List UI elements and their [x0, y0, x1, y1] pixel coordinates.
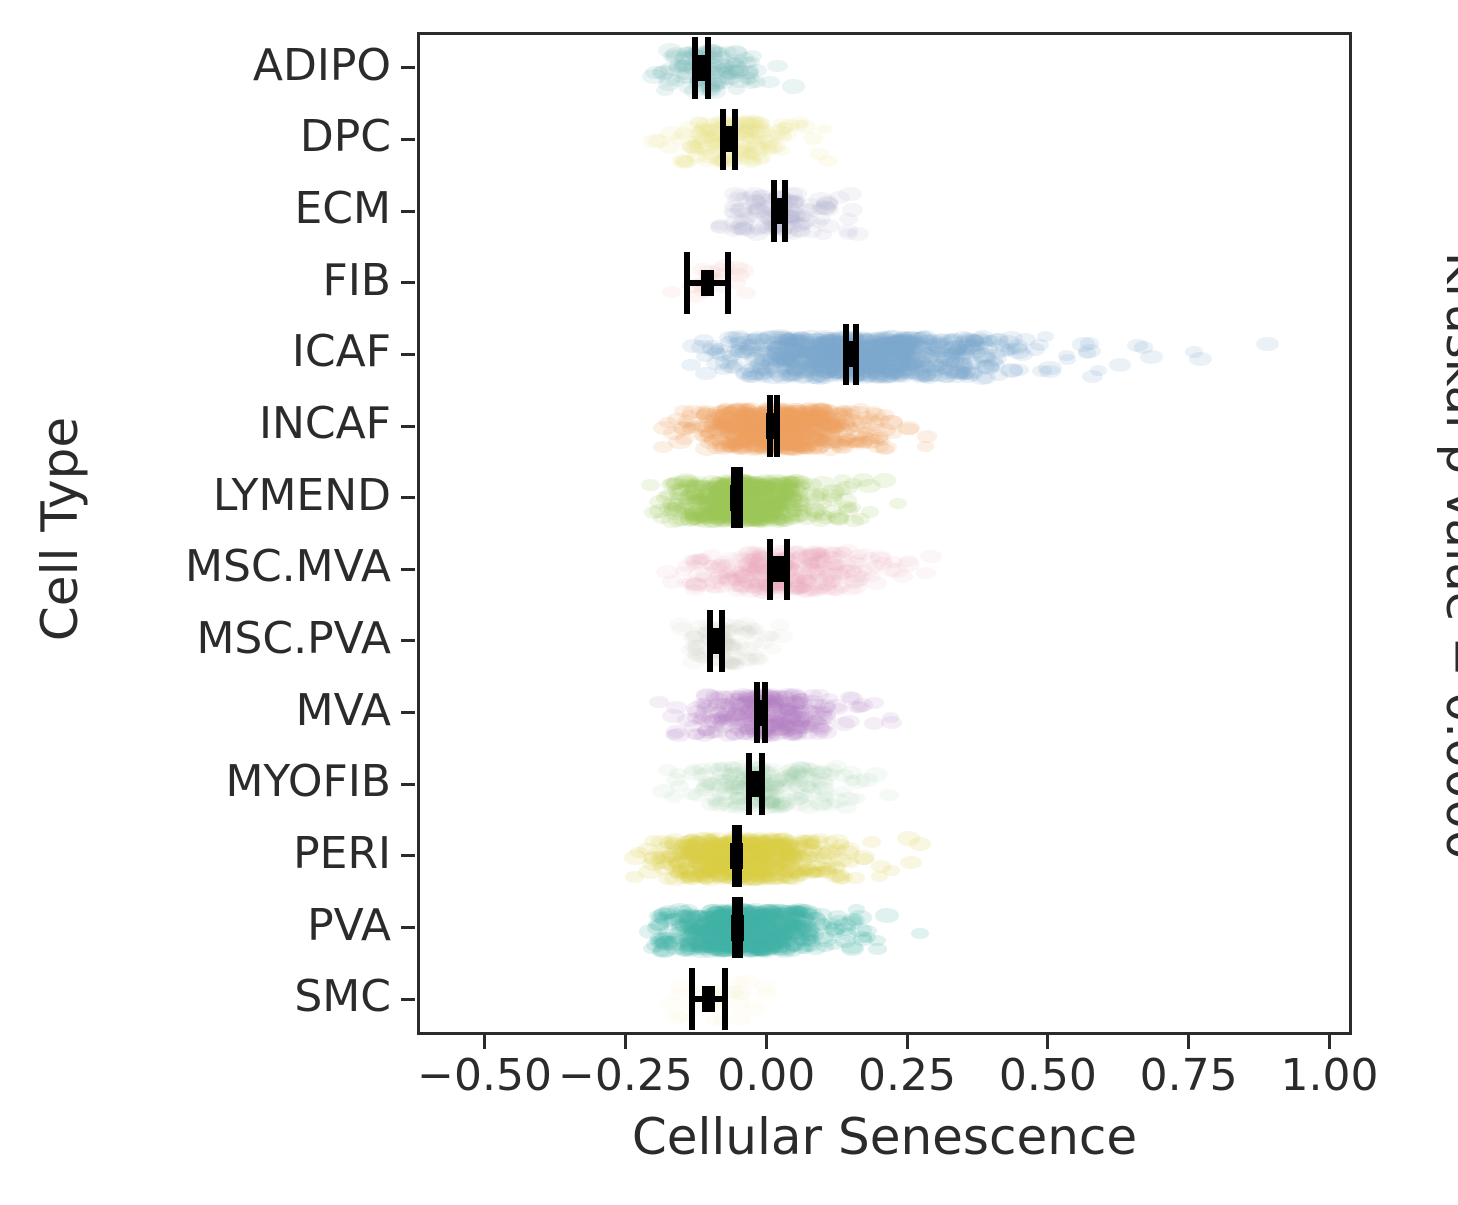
x-tick-label-6: 1.00 [1229, 1052, 1429, 1100]
swarm-row-msc-mva [420, 537, 1352, 609]
swarm-row-pva [420, 895, 1352, 967]
y-tick-ecm [401, 210, 415, 213]
y-tick-msc-mva [401, 568, 415, 571]
y-tick-label-peri: PERI [293, 832, 391, 876]
swarm-row-fib [420, 250, 1352, 322]
y-tick-adipo [401, 66, 415, 69]
y-tick-incaf [401, 425, 415, 428]
swarm-row-dpc [420, 107, 1352, 179]
x-tick-0 [483, 1035, 486, 1049]
y-tick-msc-pva [401, 639, 415, 642]
swarm-row-incaf [420, 393, 1352, 465]
y-tick-label-ecm: ECM [295, 187, 392, 231]
y-tick-pva [401, 926, 415, 929]
swarm-row-mva [420, 680, 1352, 752]
plot-area [417, 32, 1352, 1035]
y-tick-label-smc: SMC [294, 975, 391, 1019]
y-tick-label-myofib: MYOFIB [225, 760, 391, 804]
y-tick-label-incaf: INCAF [259, 402, 391, 446]
x-tick-2 [765, 1035, 768, 1049]
x-tick-5 [1187, 1035, 1190, 1049]
y-tick-label-lymend: LYMEND [213, 474, 391, 518]
y-tick-label-msc-pva: MSC.PVA [196, 617, 391, 661]
y-tick-myofib [401, 783, 415, 786]
swarm-row-icaf [420, 322, 1352, 394]
x-tick-3 [906, 1035, 909, 1049]
y-tick-label-adipo: ADIPO [253, 44, 391, 88]
x-tick-1 [624, 1035, 627, 1049]
x-tick-6 [1328, 1035, 1331, 1049]
y-tick-label-msc-mva: MSC.MVA [185, 545, 391, 589]
swarm-row-lymend [420, 465, 1352, 537]
swarm-row-peri [420, 823, 1352, 895]
swarm-row-myofib [420, 751, 1352, 823]
y-tick-peri [401, 854, 415, 857]
swarm-row-smc [420, 966, 1352, 1035]
y-tick-lymend [401, 496, 415, 499]
y-tick-icaf [401, 353, 415, 356]
swarm-row-msc-pva [420, 608, 1352, 680]
figure-canvas: ADIPODPCECMFIBICAFINCAFLYMENDMSC.MVAMSC.… [0, 0, 1458, 1205]
y-tick-label-pva: PVA [307, 904, 391, 948]
swarm-row-adipo [420, 35, 1352, 107]
y-tick-label-fib: FIB [323, 259, 391, 303]
y-tick-fib [401, 281, 415, 284]
y-tick-mva [401, 711, 415, 714]
y-tick-smc [401, 998, 415, 1001]
y-axis-title: Cell Type [31, 149, 89, 909]
y-tick-dpc [401, 138, 415, 141]
x-tick-4 [1046, 1035, 1049, 1049]
y-tick-label-icaf: ICAF [292, 330, 391, 374]
y-tick-label-dpc: DPC [300, 115, 391, 159]
x-axis-title: Cellular Senescence [417, 1108, 1352, 1166]
swarm-row-ecm [420, 178, 1352, 250]
kruskal-pvalue-annotation: Kruskal p-value = 0.0000 [1435, 176, 1458, 936]
y-tick-label-mva: MVA [296, 689, 391, 733]
